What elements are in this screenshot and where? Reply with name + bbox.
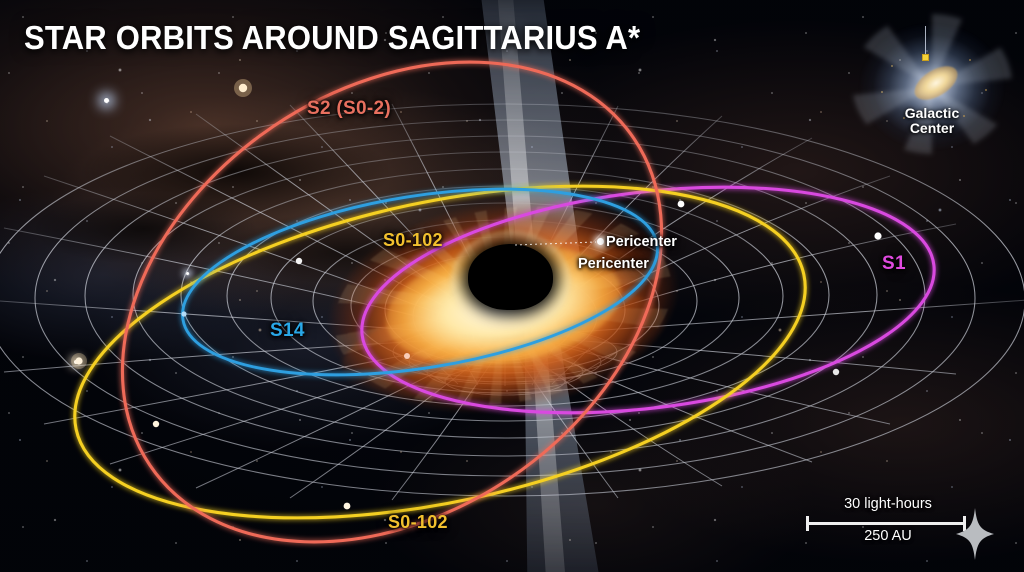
orbit-s0-102 xyxy=(45,128,835,572)
pericenter-label-lower: Pericenter xyxy=(578,256,649,272)
pericenter-marker xyxy=(597,238,604,245)
orbit-label-s0-102-bottom: S0-102 xyxy=(388,512,448,533)
scale-bar: 30 light-hours 250 AU xyxy=(800,494,980,550)
orbit-label-s1: S1 xyxy=(882,253,906,275)
compass-star-icon xyxy=(956,508,994,560)
galactic-center-label: Galactic Center xyxy=(846,106,1018,135)
sun-position-marker xyxy=(922,54,929,61)
infographic-canvas: STAR ORBITS AROUND SAGITTARIUS A* S2 (S0… xyxy=(0,0,1024,572)
sun-leader-line xyxy=(925,26,926,55)
orbit-label-s0-102-top: S0-102 xyxy=(383,230,443,251)
galactic-center-label-line1: Galactic xyxy=(846,106,1018,121)
scale-bar-bottom-label: 250 AU xyxy=(800,528,976,544)
orbit-s14 xyxy=(170,160,671,405)
scale-bar-top-label: 30 light-hours xyxy=(800,496,976,512)
scale-bar-line xyxy=(806,522,966,525)
galaxy-inset: Galactic Center xyxy=(846,14,1018,156)
page-title: STAR ORBITS AROUND SAGITTARIUS A* xyxy=(24,19,640,57)
galactic-center-label-line2: Center xyxy=(846,121,1018,136)
orbit-s2 xyxy=(31,0,752,572)
orbiting-stars xyxy=(71,79,882,509)
pericenter-label-upper: Pericenter xyxy=(606,234,677,250)
orbit-label-s2: S2 (S0-2) xyxy=(307,98,391,120)
orbit-label-s14: S14 xyxy=(270,320,305,342)
pericenter-leader xyxy=(515,242,596,245)
